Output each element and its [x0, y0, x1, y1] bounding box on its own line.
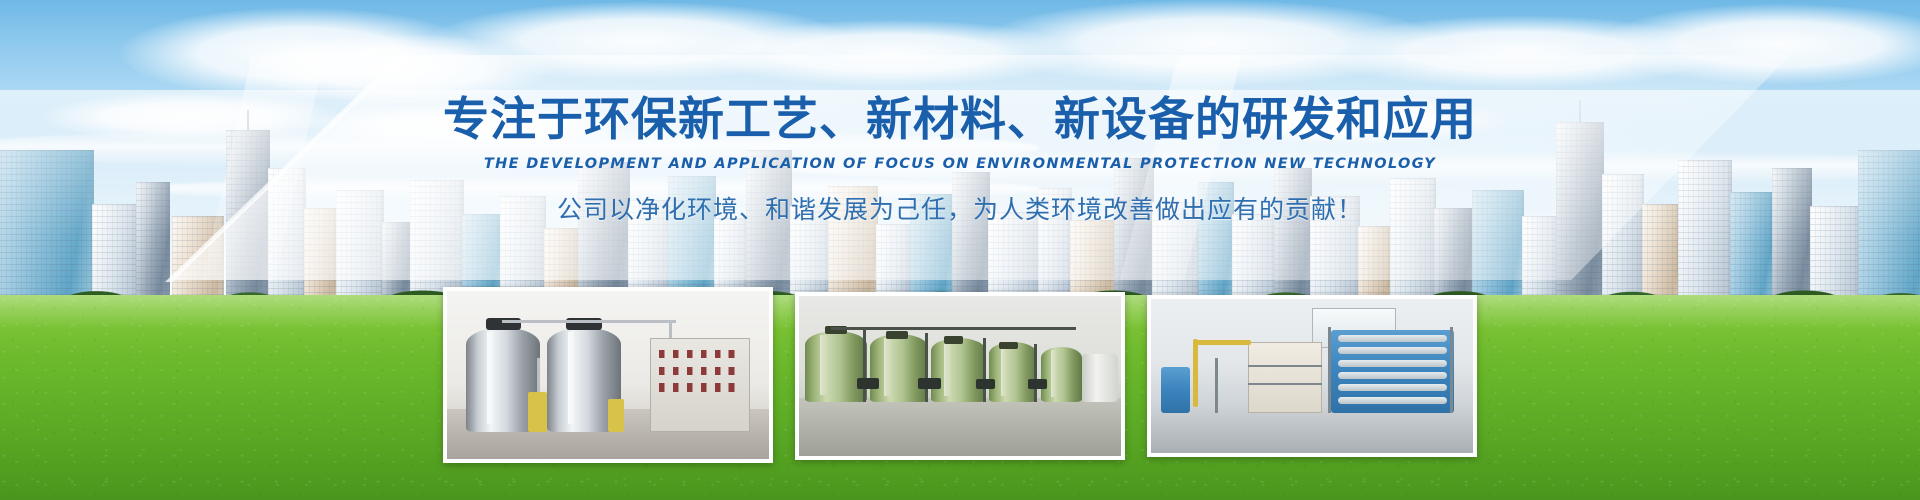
cloud-shape [980, 0, 1440, 86]
banner-subhead-en: THE DEVELOPMENT AND APPLICATION OF FOCUS… [0, 156, 1920, 172]
cloud-shape [1600, 4, 1920, 84]
cloud-shape [430, 2, 850, 80]
stainless-tank-photo [447, 291, 769, 459]
product-photo-1[interactable] [443, 287, 773, 463]
banner-subhead-cn: 公司以净化环境、和谐发展为己任，为人类环境改善做出应有的贡献！ [0, 190, 1920, 226]
banner-headline: 专注于环保新工艺、新材料、新设备的研发和应用 [0, 96, 1920, 142]
hero-banner: 专注于环保新工艺、新材料、新设备的研发和应用 THE DEVELOPMENT A… [0, 0, 1920, 500]
product-photo-strip [443, 287, 1478, 467]
green-filter-tanks-photo [799, 296, 1121, 456]
reverse-osmosis-plant-photo [1151, 299, 1473, 453]
cloud-shape [700, 20, 1080, 86]
cloud-shape [1320, 16, 1720, 88]
product-photo-2[interactable] [795, 292, 1125, 460]
product-photo-3[interactable] [1147, 295, 1477, 457]
banner-copy: 专注于环保新工艺、新材料、新设备的研发和应用 THE DEVELOPMENT A… [0, 96, 1920, 226]
cloud-shape [120, 8, 480, 98]
